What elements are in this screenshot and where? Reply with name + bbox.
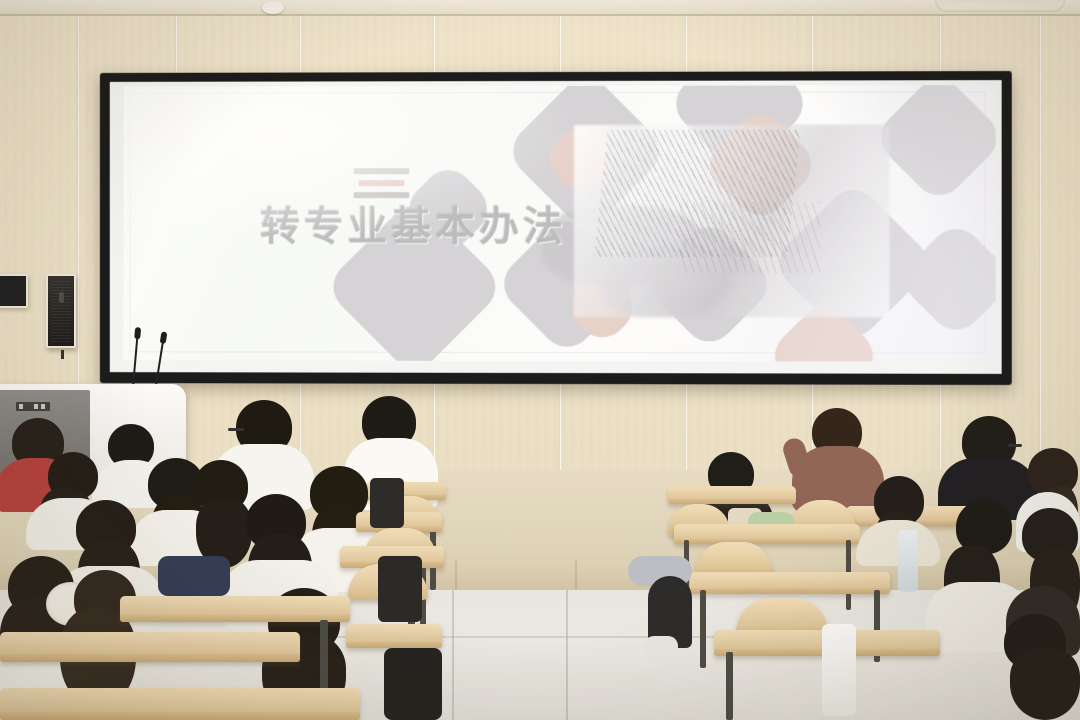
speaker-knob	[59, 292, 64, 303]
dark-bag	[384, 648, 442, 720]
dark-bag	[370, 478, 404, 528]
lectern-label-mark	[34, 404, 38, 409]
speaker-cable	[61, 350, 64, 359]
slide-title: 转专业基本办法	[205, 206, 623, 248]
screen-bezel: 转专业基本办法	[110, 80, 1002, 374]
student-sleeve	[158, 556, 230, 596]
lecture-hall-photo: 转专业基本办法	[0, 0, 1080, 720]
floor-tile-line	[452, 590, 454, 720]
lecture-desk	[0, 632, 300, 662]
section-number-stroke	[354, 192, 410, 198]
section-number-stroke	[354, 168, 410, 174]
floor-tile-line	[566, 590, 568, 720]
plastic-water-bottle	[898, 530, 918, 592]
stage-seam	[575, 560, 577, 594]
white-tumbler	[822, 624, 856, 716]
lecture-desk	[120, 596, 350, 622]
dark-bag	[378, 556, 422, 622]
speaker-grill	[51, 280, 71, 342]
stage-seam	[455, 560, 457, 594]
microphone-head	[134, 327, 141, 339]
lecture-desk	[0, 688, 360, 720]
presentation-slide: 转专业基本办法	[124, 85, 996, 362]
ceiling-vent	[935, 0, 1065, 12]
lecture-desk	[346, 624, 442, 648]
lecture-desk	[690, 572, 890, 594]
projection-screen: 转专业基本办法	[100, 71, 1012, 385]
wall-display-panel	[0, 274, 28, 308]
lectern-label-mark	[41, 404, 45, 409]
desk-leg	[726, 652, 733, 720]
desk-leg	[700, 590, 706, 668]
ceiling-light-fixture	[262, 1, 284, 14]
section-number-stroke	[359, 180, 405, 186]
wall-speaker	[46, 274, 76, 348]
lecture-desk	[674, 524, 860, 544]
lecture-desk	[668, 486, 796, 504]
lectern-label-mark	[19, 404, 23, 409]
slide-photo-streaks	[679, 201, 819, 273]
lectern-label	[16, 402, 50, 411]
slide-section-number	[354, 168, 410, 204]
